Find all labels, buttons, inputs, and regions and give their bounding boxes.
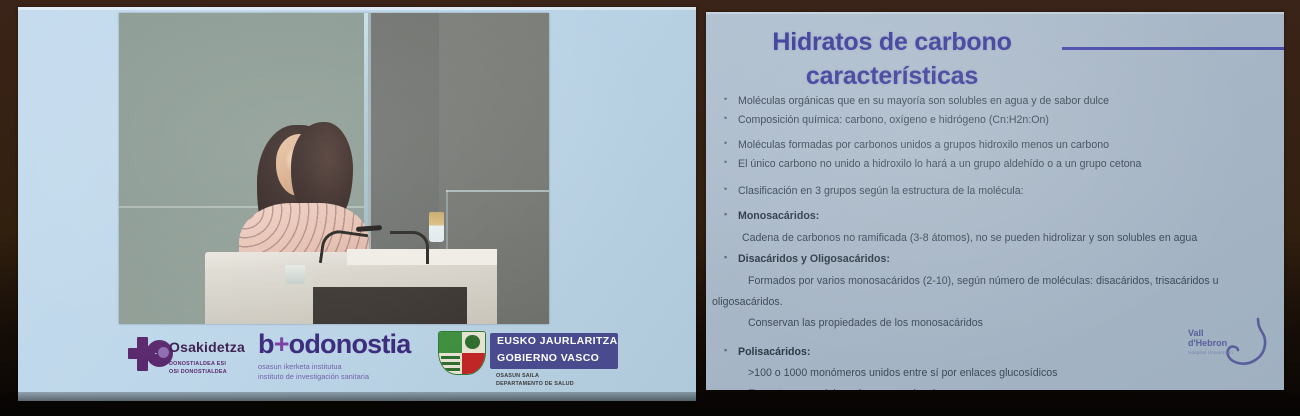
slide-title: Hidratos de carbono características [706,26,1078,93]
gobierno-vasco-line-eu: EUSKO JAURLARITZA [490,333,618,350]
speaker-photo [119,13,549,324]
coat-quadrant-4 [462,353,485,374]
slide-line: Moléculas orgánicas que en su mayoría so… [738,94,1109,108]
slide-title-line-1: Hidratos de carbono [706,26,1078,60]
osakidetza-dot [158,347,169,358]
coat-bars-icon [441,356,460,373]
slide-line: Conservan las propiedades de los monosac… [748,316,983,330]
slide-line: Disacáridos y Oligosacáridos: [738,252,890,266]
biodonostia-suffix: odonostia [289,329,411,359]
osakidetza-subtitle-line-2: OSI DONOSTIALDEA [169,368,227,376]
slide-line: Clasificación en 3 grupos según la estru… [738,184,1024,198]
slide-line: >100 o 1000 monómeros unidos entre sí po… [748,366,1057,380]
gobierno-vasco-subtitle-line-2: DEPARTAMENTO DE SALUD [496,380,574,388]
biodonostia-prefix: b [258,329,274,359]
title-underline-rule [1062,47,1284,50]
drinking-glass-icon [285,265,305,284]
slide-line: Moléculas formadas por carbonos unidos a… [738,138,1109,152]
osakidetza-subtitle-line-1: DONOSTIALDEA ESI [169,360,227,368]
biodonostia-wordmark: b+odonostia [258,331,423,358]
logo-biodonostia: b+odonostia osasun ikerketa institutua i… [258,331,423,397]
slide-line: Estructura compleja y alto peso molecula… [748,387,945,390]
left-projection-screen: Osakidetza DONOSTIALDEA ESI OSI DONOSTIA… [18,7,696,401]
right-projection-screen: Hidratos de carbono características Molé… [706,12,1284,390]
water-bottle-icon [429,212,444,242]
gobierno-vasco-subtitle: OSASUN SAILA DEPARTAMENTO DE SALUD [496,372,574,389]
slide-line: Monosacáridos: [738,209,819,223]
coat-quadrant-1 [439,332,462,353]
microphone-second-icon [390,231,429,264]
vall-hebron-line-2: d'Hebron [1188,338,1227,348]
osakidetza-mark-icon [128,337,164,371]
podium-front-panel [313,287,468,324]
gobierno-vasco-line-es: GOBIERNO VASCO [490,350,618,367]
projection-room-backdrop: Osakidetza DONOSTIALDEA ESI OSI DONOSTIA… [0,0,1300,416]
osakidetza-wordmark: Osakidetza [169,339,245,355]
biodonostia-cross-icon: + [274,329,289,359]
vall-hebron-line-1: Vall [1188,328,1227,338]
sponsor-logo-strip: Osakidetza DONOSTIALDEA ESI OSI DONOSTIA… [18,327,696,401]
slide-line: oligosacáridos. [712,295,783,309]
osakidetza-subtitle: DONOSTIALDEA ESI OSI DONOSTIALDEA [169,360,227,376]
slide-title-line-2: características [706,60,1078,94]
gobierno-vasco-band: EUSKO JAURLARITZA GOBIERNO VASCO [490,333,618,369]
slide-line: Cadena de carbonos no ramificada (3-8 át… [742,231,1197,245]
gobierno-vasco-subtitle-line-1: OSASUN SAILA [496,372,574,380]
vall-hebron-subtitle: Hospital Universitari [1188,350,1233,355]
biodonostia-subtitle-line-1: osasun ikerketa institutua [258,362,423,372]
vall-hebron-wordmark: Vall d'Hebron [1188,328,1227,349]
biodonostia-subtitle-line-2: instituto de investigación sanitaria [258,372,423,382]
slide-line: El único carbono no unido a hidroxilo lo… [738,157,1141,171]
logo-osakidetza: Osakidetza DONOSTIALDEA ESI OSI DONOSTIA… [128,333,248,395]
logo-eusko-jaurlaritza: EUSKO JAURLARITZA GOBIERNO VASCO OSASUN … [438,331,623,395]
slide-line: Formados por varios monosacáridos (2-10)… [748,274,1218,288]
biodonostia-subtitle: osasun ikerketa institutua instituto de … [258,362,423,383]
slide-line: Composición química: carbono, oxígeno e … [738,113,1049,127]
microphone-icon [319,228,368,269]
slide-line: Polisacáridos: [738,345,810,359]
coat-tree-icon [465,335,480,349]
basque-coat-of-arms-icon [438,331,486,375]
logo-vall-hebron: Vall d'Hebron Hospital Universitari [1188,314,1270,376]
